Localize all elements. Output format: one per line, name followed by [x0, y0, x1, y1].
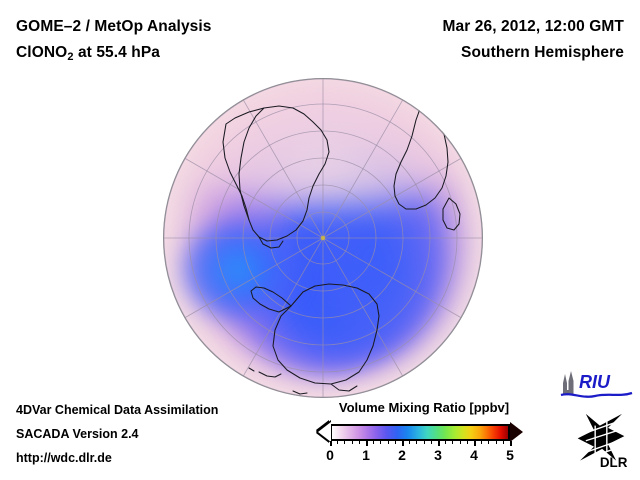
dlr-logo: DLR	[566, 408, 636, 470]
riu-wordmark: RIU	[579, 372, 611, 392]
colorbar-minor-tick	[352, 441, 353, 444]
colorbar-minor-tick	[445, 441, 446, 444]
colorbar-minor-tick	[359, 441, 360, 444]
colorbar-tick-label: 1	[362, 447, 370, 463]
colorbar-minor-tick	[373, 441, 374, 444]
colorbar-minor-tick	[452, 441, 453, 444]
instrument-title: GOME–2 / MetOp Analysis	[16, 18, 212, 36]
riu-cathedral-spires	[563, 371, 574, 394]
figure-canvas: GOME–2 / MetOp Analysis ClONO2 at 55.4 h…	[0, 0, 640, 480]
colorbar-major-tick	[510, 441, 512, 446]
riu-wave	[561, 393, 632, 397]
colorbar-minor-tick	[344, 441, 345, 444]
colorbar-minor-tick	[503, 441, 504, 444]
colorbar-major-tick	[330, 441, 332, 446]
colorbar-tick-label: 0	[326, 447, 334, 463]
colorbar-tick-labels: 012345	[330, 447, 510, 467]
datetime-label: Mar 26, 2012, 12:00 GMT	[442, 18, 624, 36]
globe-disc	[163, 78, 483, 398]
footer-method: 4DVar Chemical Data Assimilation	[16, 403, 218, 417]
colorbar-minor-tick	[416, 441, 417, 444]
colorbar-minor-tick	[481, 441, 482, 444]
colorbar-over-arrow	[510, 422, 523, 442]
colorbar-minor-tick	[431, 441, 432, 444]
footer-version: SACADA Version 2.4	[16, 427, 139, 441]
region-label: Southern Hemisphere	[461, 44, 624, 62]
colorbar-tick-label: 2	[398, 447, 406, 463]
colorbar-under-arrow	[318, 422, 331, 442]
colorbar-tick-label: 5	[506, 447, 514, 463]
limb-shadow	[163, 78, 483, 398]
footer-url[interactable]: http://wdc.dlr.de	[16, 451, 112, 465]
colorbar-minor-tick	[337, 441, 338, 444]
colorbar-major-tick	[402, 441, 404, 446]
colorbar-tick-label: 3	[434, 447, 442, 463]
colorbar-major-tick	[366, 441, 368, 446]
species-name: ClONO	[16, 44, 67, 61]
colorbar-minor-tick	[388, 441, 389, 444]
colorbar-minor-tick	[496, 441, 497, 444]
colorbar-minor-tick	[380, 441, 381, 444]
dlr-wordmark: DLR	[600, 455, 628, 470]
colorbar-minor-tick	[395, 441, 396, 444]
colorbar-major-tick	[438, 441, 440, 446]
colorbar-title: Volume Mixing Ratio [ppbv]	[316, 400, 532, 415]
riu-logo: RIU	[560, 370, 634, 400]
colorbar-gradient	[330, 424, 510, 441]
colorbar-minor-tick	[467, 441, 468, 444]
globe-map	[163, 78, 483, 398]
species-title: ClONO2 at 55.4 hPa	[16, 44, 160, 63]
colorbar-minor-tick	[460, 441, 461, 444]
colorbar-tick-label: 4	[470, 447, 478, 463]
colorbar-ticks	[330, 441, 510, 446]
colorbar-major-tick	[474, 441, 476, 446]
colorbar-minor-tick	[424, 441, 425, 444]
colorbar-minor-tick	[409, 441, 410, 444]
colorbar-minor-tick	[488, 441, 489, 444]
species-level: at 55.4 hPa	[74, 44, 161, 61]
